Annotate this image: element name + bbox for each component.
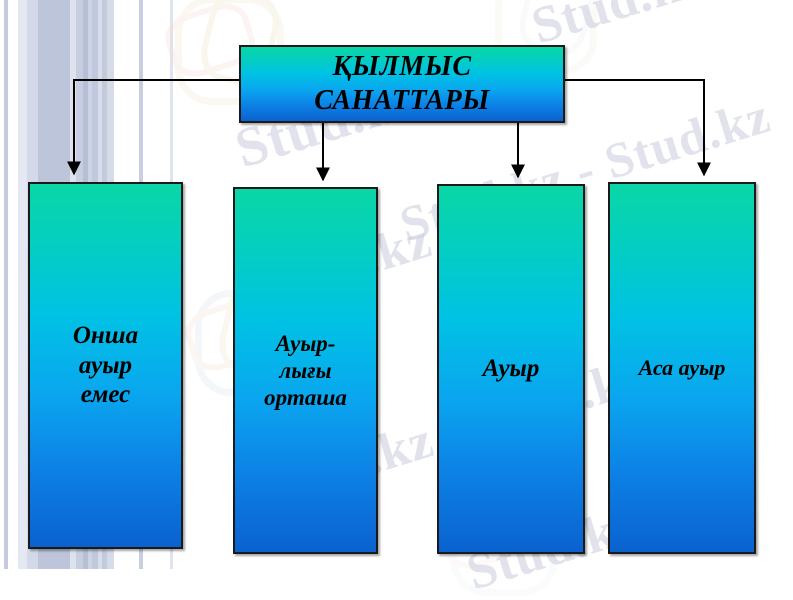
title-box: ҚЫЛМЫС САНАТТАРЫ: [239, 45, 565, 123]
category-line: Ауыр: [483, 354, 540, 384]
category-line: Аса ауыр: [639, 355, 726, 381]
title-line-2: САНАТТАРЫ: [314, 84, 490, 118]
title-line-1: ҚЫЛМЫС: [314, 50, 490, 84]
category-box-onsha-auyr-emes: Онша ауыр емес: [28, 182, 183, 549]
category-line: емес: [73, 380, 138, 410]
connector-to-box-1: [74, 80, 239, 174]
category-box-text: Аса ауыр: [639, 355, 726, 381]
category-box-auyrlygy-ortasha: Ауыр- лығы орташа: [233, 187, 378, 554]
connector-to-box-4: [565, 80, 704, 175]
title-box-text: ҚЫЛМЫС САНАТТАРЫ: [314, 50, 490, 118]
category-box-text: Ауыр: [483, 354, 540, 384]
category-line: Онша: [73, 321, 138, 351]
category-box-auyr: Ауыр: [437, 184, 585, 554]
category-box-asa-auyr: Аса ауыр: [608, 182, 756, 554]
category-line: ауыр: [73, 351, 138, 381]
category-box-text: Ауыр- лығы орташа: [264, 330, 347, 411]
category-line: лығы: [264, 357, 347, 384]
category-box-text: Онша ауыр емес: [73, 321, 138, 410]
category-line: Ауыр-: [264, 330, 347, 357]
slide-canvas: Stud.kzStud.kzStud.kz - Stud.kzStud.kz -…: [0, 0, 793, 600]
category-line: орташа: [264, 384, 347, 411]
